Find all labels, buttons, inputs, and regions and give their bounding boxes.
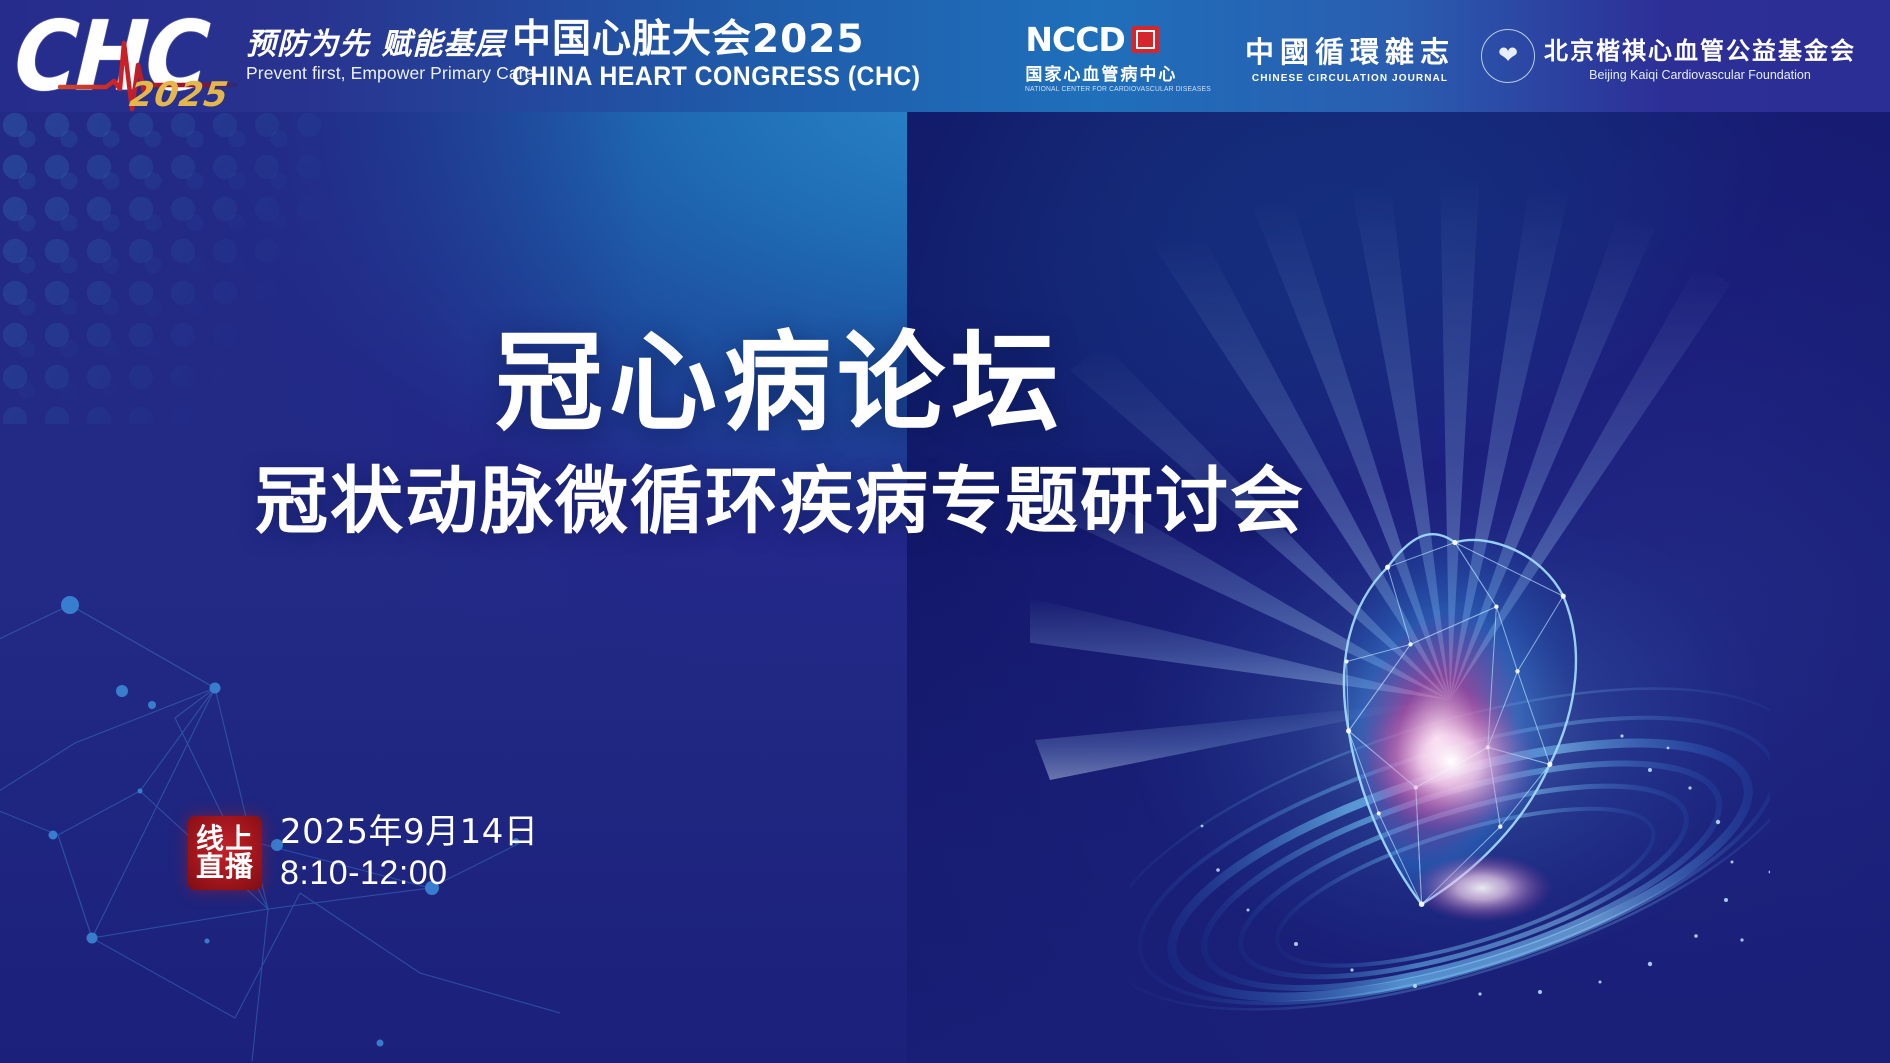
beijing-kaiqi-foundation-logo: ❤ 北京楷祺心血管公益基金会 Beijing Kaiqi Cardiovascu…	[1481, 29, 1856, 83]
slogan-en: Prevent first, Empower Primary Care	[246, 63, 474, 84]
live-badge-line2: 直播	[196, 853, 254, 882]
page-subtitle: 冠状动脉微循环疾病专题研讨会	[0, 464, 1560, 541]
kaiqi-name-cn: 北京楷祺心血管公益基金会	[1544, 31, 1856, 66]
page-title: 冠心病论坛	[0, 330, 1560, 438]
ccj-name-en: CHINESE CIRCULATION JOURNAL	[1245, 73, 1455, 84]
nccd-logo: NCCD 国家心血管病中心 NATIONAL CENTER FOR CARDIO…	[1025, 20, 1219, 93]
heart-seal-icon: ❤	[1481, 29, 1535, 83]
nccd-name-en: NATIONAL CENTER FOR CARDIOVASCULAR DISEA…	[1025, 86, 1211, 93]
slogan-cn: 预防为先 赋能基层	[246, 28, 474, 62]
chinese-circulation-journal-logo: 中國循環雜志 CHINESE CIRCULATION JOURNAL	[1245, 29, 1455, 84]
congress-title-cn: 中国心脏大会2025	[512, 20, 956, 61]
chc-logo: CHC 2025	[18, 3, 226, 109]
chc-logo-year: 2025	[127, 75, 231, 115]
ccj-name-cn: 中國循環雜志	[1245, 29, 1455, 71]
live-stream-badge: 线上 直播	[188, 816, 262, 890]
event-date: 2025年9月14日	[280, 812, 538, 853]
slogan-block: 预防为先 赋能基层 Prevent first, Empower Primary…	[246, 28, 474, 85]
schedule-block: 线上 直播 2025年9月14日 8:10-12:00	[188, 812, 538, 895]
poster-header: CHC 2025 预防为先 赋能基层 Prevent first, Empowe…	[0, 0, 1890, 112]
nccd-name-cn: 国家心血管病中心	[1025, 60, 1219, 85]
organizer-logos: NCCD 国家心血管病中心 NATIONAL CENTER FOR CARDIO…	[1025, 20, 1890, 93]
nccd-seal-icon	[1132, 26, 1159, 53]
title-block: 冠心病论坛 冠状动脉微循环疾病专题研讨会	[0, 330, 1560, 541]
nccd-acronym: NCCD	[1025, 20, 1124, 59]
event-time: 8:10-12:00	[280, 853, 538, 894]
congress-title-en: CHINA HEART CONGRESS (CHC)	[512, 61, 920, 92]
low-poly-heart-icon	[1130, 470, 1770, 1060]
schedule-text: 2025年9月14日 8:10-12:00	[280, 812, 538, 895]
kaiqi-name-en: Beijing Kaiqi Cardiovascular Foundation	[1544, 68, 1856, 82]
live-badge-line1: 线上	[196, 825, 254, 854]
poster-canvas: CHC 2025 预防为先 赋能基层 Prevent first, Empowe…	[0, 0, 1890, 1063]
congress-title-block: 中国心脏大会2025 CHINA HEART CONGRESS (CHC)	[512, 20, 956, 93]
heart-glyph-icon: ❤	[1498, 44, 1518, 68]
